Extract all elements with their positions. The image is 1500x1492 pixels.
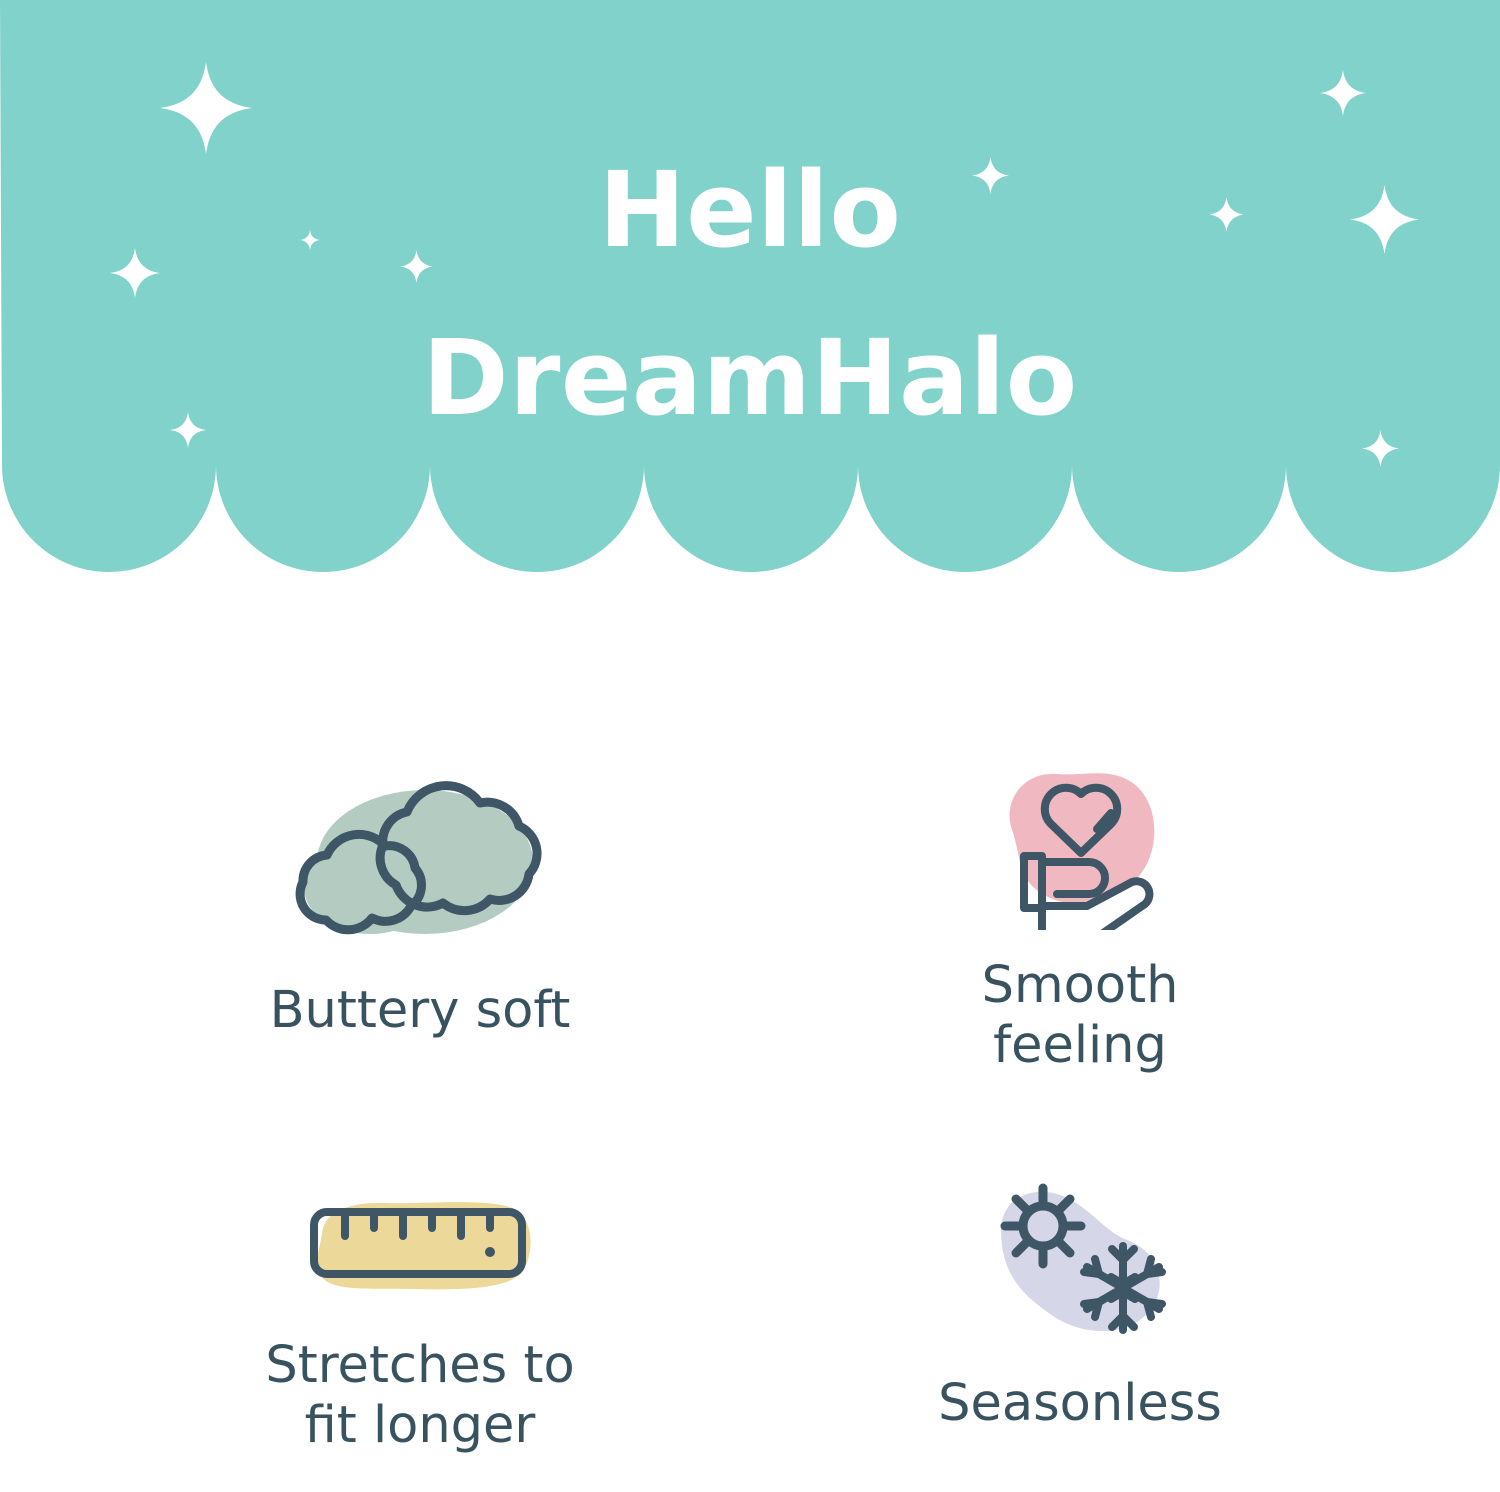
cloud-icon	[275, 770, 565, 955]
feature-item-buttery-soft: Buttery soft	[140, 770, 700, 1041]
scalloped-edge-divider	[0, 0, 1500, 572]
hero-banner: Hello DreamHalo	[0, 0, 1500, 600]
sun-and-snowflake-icon	[975, 1168, 1185, 1348]
feature-item-smooth-feeling: Smooth feeling	[800, 760, 1360, 1076]
hand-holding-heart-icon	[980, 760, 1180, 930]
feature-label: Buttery soft	[270, 981, 571, 1041]
feature-item-seasonless: Seasonless	[800, 1168, 1360, 1434]
product-feature-infographic: Hello DreamHalo Buttery soft	[0, 0, 1500, 1492]
hero-background-shape	[0, 0, 1500, 600]
feature-label: Smooth feeling	[982, 956, 1179, 1076]
feature-label: Seasonless	[938, 1374, 1222, 1434]
feature-label: Stretches to fit longer	[265, 1336, 574, 1456]
ruler-icon	[290, 1190, 550, 1310]
feature-item-stretches-to-fit-longer: Stretches to fit longer	[140, 1190, 700, 1456]
feature-grid: Buttery soft Smooth feeling	[0, 690, 1500, 1490]
